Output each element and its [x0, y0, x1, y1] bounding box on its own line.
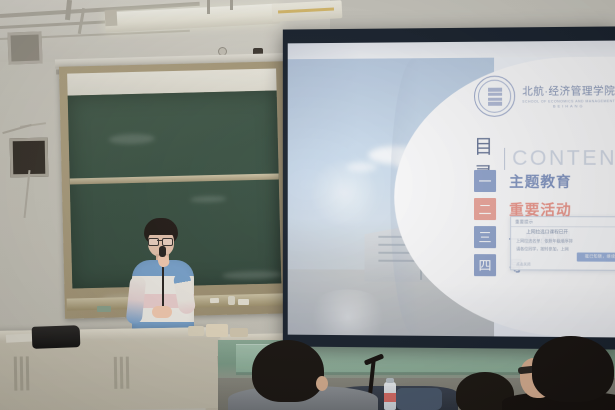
- projection-screen: ▶ Ⅱ ❶❷❸❹ ─ □ ×: [283, 26, 615, 349]
- agenda-number-badge: 四: [474, 254, 496, 276]
- black-bag: [32, 325, 81, 349]
- university-seal-icon: [474, 76, 515, 117]
- logo-english-short: BEIHANG: [522, 104, 615, 108]
- desk-vent: [26, 356, 30, 390]
- agenda-number-badge: 三: [474, 226, 496, 248]
- lens-glare: [309, 158, 378, 228]
- dialog-footnote[interactable]: 点击关闭: [516, 262, 530, 267]
- chalk-piece: [238, 299, 249, 305]
- desk-vent: [14, 357, 18, 391]
- logo-english-name: SCHOOL OF ECONOMICS AND MANAGEMENT: [522, 99, 615, 103]
- chalk-smudge: [190, 196, 226, 203]
- eyeglasses-lens: [162, 238, 173, 246]
- desk-vent: [20, 356, 24, 390]
- dialog-body: 上网拉选口课程已开 上网拉选名单：依照年级顺序排 请各位同学，按时参加，上网: [511, 227, 615, 255]
- bottle-cap: [386, 378, 394, 383]
- logo-text-block: 北航·经济管理学院 SCHOOL OF ECONOMICS AND MANAGE…: [522, 83, 615, 109]
- chalk-smudge: [222, 270, 282, 279]
- bottle-label: [384, 393, 396, 402]
- chalk-piece: [210, 298, 219, 303]
- seal-emblem-icon: [488, 87, 502, 105]
- logo-chinese-name: 北航·经济管理学院: [522, 83, 615, 99]
- presenter-fringe: [145, 224, 177, 235]
- audience-head: [532, 336, 614, 402]
- lamp-mount-rod: [207, 0, 210, 14]
- school-logo: 北航·经济管理学院 SCHOOL OF ECONOMICS AND MANAGE…: [474, 75, 615, 117]
- audience-member-with-glasses: [506, 336, 615, 410]
- desk-vent: [114, 357, 118, 389]
- slide-content: 北航·经济管理学院 SCHOOL OF ECONOMICS AND MANAGE…: [468, 65, 610, 331]
- desk-item: [188, 326, 204, 336]
- dialog-confirm-button[interactable]: 我已知晓，继续: [577, 252, 615, 261]
- chalk-eraser: [97, 306, 111, 312]
- agenda-number-badge: 二: [474, 198, 496, 220]
- dialog-titlebar: 重要提示: [511, 217, 615, 227]
- audience-head: [252, 340, 324, 402]
- agenda-number-badge: 一: [474, 170, 496, 192]
- chalk-piece: [228, 296, 235, 305]
- desk-item: [230, 328, 248, 337]
- dialog-lead-text: 上网拉选口课程已开: [516, 229, 615, 235]
- slide-title-en: CONTENT: [512, 147, 615, 171]
- lamp-mount-rod: [230, 0, 233, 10]
- presenter-hand: [152, 306, 172, 318]
- wall-vent-box: [7, 31, 42, 64]
- desk-vent: [120, 357, 124, 389]
- dialog-title: 重要提示: [515, 219, 533, 225]
- desk-item: [206, 324, 228, 337]
- classroom-presentation-photo: ▶ Ⅱ ❶❷❸❹ ─ □ ×: [0, 0, 615, 410]
- agenda-item-1[interactable]: 一 主题教育: [474, 170, 572, 192]
- chalk-smudge: [109, 133, 155, 144]
- title-divider: [504, 148, 505, 170]
- microphone: [159, 246, 166, 257]
- dialog-text-line: 上网拉选名单：依照年级顺序排: [516, 238, 615, 244]
- desk-vent: [126, 357, 130, 389]
- projected-slide: ▶ Ⅱ ❶❷❸❹ ─ □ ×: [288, 41, 615, 338]
- eyeglasses-bridge: [157, 240, 162, 241]
- lamp-endcap: [105, 10, 118, 27]
- audience-ear: [316, 376, 328, 391]
- agenda-label: 主题教育: [509, 170, 572, 191]
- notice-dialog[interactable]: 重要提示 上网拉选口课程已开 上网拉选名单：依照年级顺序排 请各位同学，按时参加…: [510, 216, 615, 271]
- audience-member: [238, 338, 356, 410]
